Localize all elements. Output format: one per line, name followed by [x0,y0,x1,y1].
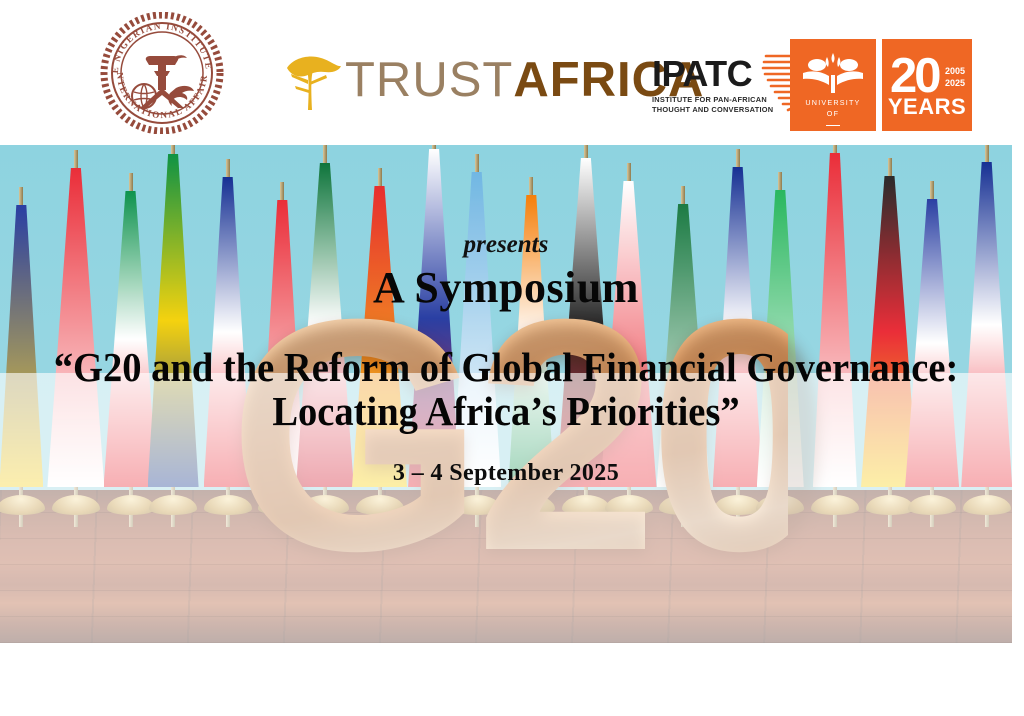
event-type-heading: A Symposium [0,262,1012,313]
hero-text-block: presents A Symposium “G20 and the Reform… [0,145,1012,643]
uj-year-to: 2025 [945,77,965,89]
symposium-title-line2: Locating Africa’s Priorities” [30,389,981,433]
trustafrica-wordmark: TRUSTAFRICA [345,56,704,105]
symposium-title-line1: “G20 and the Reform of Global Financial … [54,344,959,390]
trustafrica-word-trust: TRUST [345,53,513,107]
poster-canvas: · THE NIGERIAN INSTITUTE OF · INTERNATIO… [0,0,1024,716]
logo-bar: · THE NIGERIAN INSTITUTE OF · INTERNATIO… [0,0,1024,145]
uj-anniversary-word: YEARS [882,94,972,120]
uj-year-from: 2005 [945,65,965,77]
uj-university-line3: JOHANNESBURG [796,131,870,140]
uj-university-line2: OF [790,108,876,119]
trustafrica-logo: TRUSTAFRICA [283,44,608,124]
uj-university-line1: UNIVERSITY [790,97,876,108]
presents-label: presents [0,231,1012,259]
uj-anniversary-panel: 20 2005 2025 YEARS [882,39,972,131]
uj-crest-panel: UNIVERSITY OF JOHANNESBURG [790,39,876,131]
ipatc-logo: IPATC INSTITUTE FOR PAN-AFRICAN THOUGHT … [652,56,792,118]
uj-open-book-wings-icon [801,51,865,93]
uj-anniversary-years-range: 2005 2025 [945,65,965,89]
acacia-tree-icon [283,50,349,112]
niia-logo: · THE NIGERIAN INSTITUTE OF · INTERNATIO… [88,12,236,134]
event-dates: 3 – 4 September 2025 [0,460,1012,487]
symposium-title: “G20 and the Reform of Global Financial … [30,345,981,433]
uj-20-years-logo: UNIVERSITY OF JOHANNESBURG 20 2005 2025 … [790,39,972,131]
